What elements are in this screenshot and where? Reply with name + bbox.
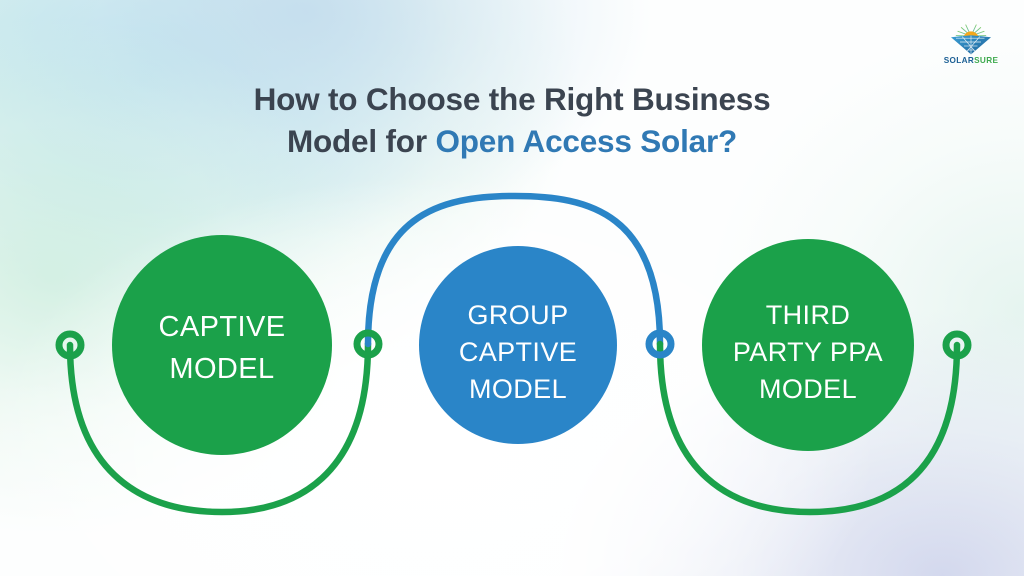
node-third-party-ppa-model-label-2: PARTY PPA: [733, 337, 883, 367]
node-group-captive-model-label-1: GROUP: [467, 300, 568, 330]
title-line-2: Model for Open Access Solar?: [90, 120, 934, 162]
node-group-captive-model-label-3: MODEL: [469, 374, 567, 404]
title-accent-text: Open Access Solar?: [435, 123, 737, 159]
title-line-1: How to Choose the Right Business: [90, 78, 934, 120]
brand-wordmark-part2: SURE: [974, 56, 998, 65]
slide-canvas: SOLARSURE How to Choose the Right Busine…: [0, 0, 1024, 576]
brand-wordmark-part1: SOLAR: [944, 56, 974, 65]
brand-wordmark: SOLARSURE: [940, 57, 1002, 65]
node-captive-model-circle: [112, 235, 332, 455]
node-third-party-ppa-model-label-1: THIRD: [766, 300, 851, 330]
brand-logo[interactable]: SOLARSURE: [940, 22, 1002, 65]
node-group-captive-model[interactable]: GROUP CAPTIVE MODEL: [419, 246, 617, 444]
node-third-party-ppa-model[interactable]: THIRD PARTY PPA MODEL: [702, 239, 914, 451]
node-third-party-ppa-model-label-3: MODEL: [759, 374, 857, 404]
page-title: How to Choose the Right Business Model f…: [0, 78, 1024, 162]
node-group-captive-model-label-2: CAPTIVE: [459, 337, 577, 367]
node-captive-model-label-1: CAPTIVE: [159, 311, 286, 343]
node-captive-model[interactable]: CAPTIVE MODEL: [112, 235, 332, 455]
title-line-2-prefix: Model for: [287, 123, 436, 159]
solarsure-sun-panel-icon: [949, 22, 993, 56]
node-captive-model-label-2: MODEL: [169, 353, 274, 385]
